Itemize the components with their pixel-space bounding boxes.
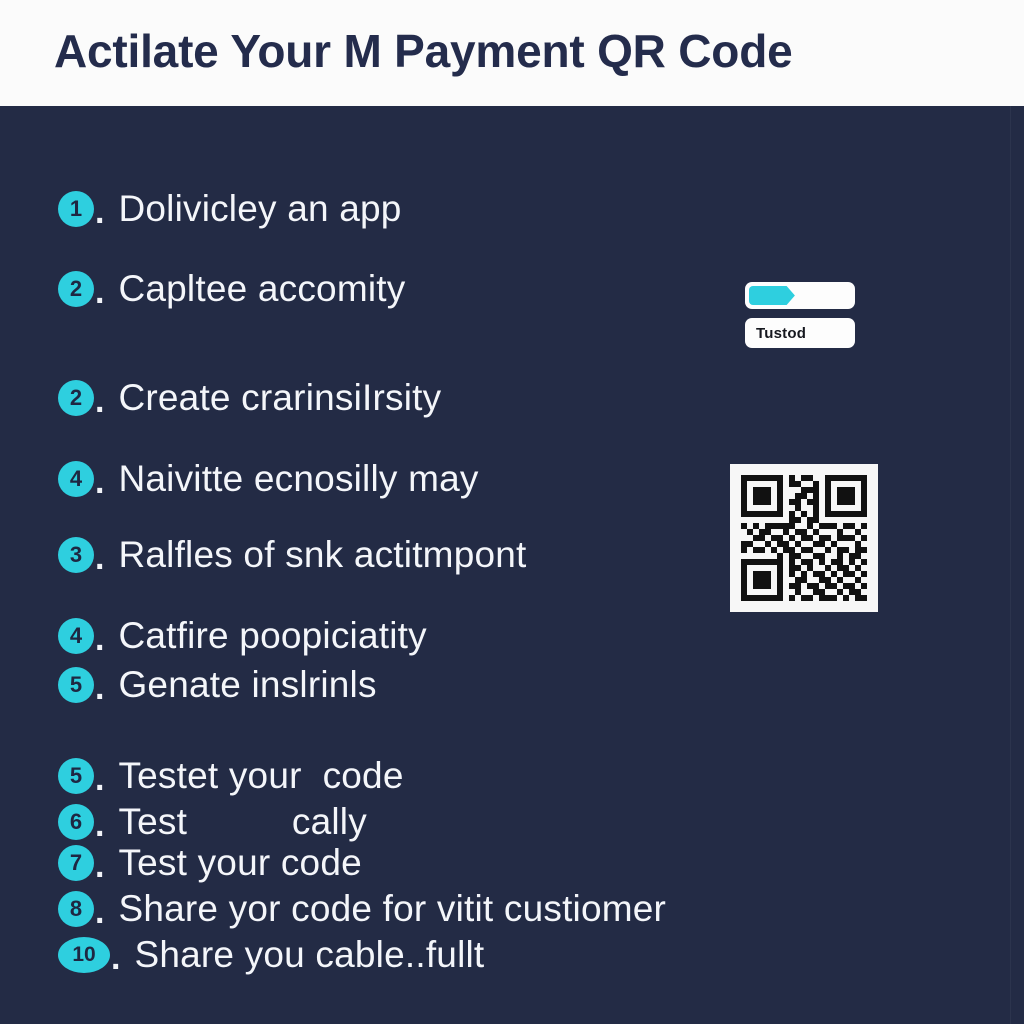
step-item: 5.Testet your code (58, 757, 404, 794)
step-number-period: . (95, 202, 104, 222)
step-label: Ralfles of snk actitmpont (118, 536, 526, 573)
progress-bar-widget[interactable] (745, 282, 855, 309)
step-number-badge: 2 (58, 380, 94, 416)
step-item: 8.Share yor code for vitit custiomer (58, 890, 666, 927)
step-number-period: . (95, 678, 104, 698)
step-label: Test cally (118, 803, 366, 840)
step-number-badge: 1 (58, 191, 94, 227)
step-label: Create crarinsiIrsity (118, 379, 441, 416)
poster-canvas: Actilate Your M Payment QR Code 1.Dolivi… (0, 0, 1024, 1024)
step-item: 2.Capltee accomity (58, 270, 405, 307)
step-label: Share yor code for vitit custiomer (118, 890, 666, 927)
step-number-period: . (111, 948, 120, 968)
step-number-badge: 10 (58, 937, 110, 973)
step-label: Catfire poopiciatity (118, 617, 426, 654)
step-label: Test your code (118, 844, 361, 881)
step-number-period: . (95, 282, 104, 302)
step-number-badge: 7 (58, 845, 94, 881)
step-number-period: . (95, 391, 104, 411)
step-number-badge: 4 (58, 461, 94, 497)
step-label: Share you cable..fullt (134, 936, 484, 973)
step-number-badge: 6 (58, 804, 94, 840)
qr-code-icon (741, 475, 867, 601)
page-title: Actilate Your M Payment QR Code (0, 27, 792, 79)
step-number-badge: 2 (58, 271, 94, 307)
step-item: 7.Test your code (58, 844, 362, 881)
step-item: 5.Genate inslrinls (58, 666, 377, 703)
step-number-period: . (95, 902, 104, 922)
tag-chip[interactable]: Tustod (745, 318, 855, 348)
step-label: Dolivicley an app (118, 190, 401, 227)
step-item: 4.Naivitte ecnosilly may (58, 460, 479, 497)
step-number-period: . (95, 548, 104, 568)
progress-track (749, 286, 851, 305)
step-number-period: . (95, 472, 104, 492)
step-number-period: . (95, 769, 104, 789)
tag-chip-label: Tustod (756, 325, 806, 342)
step-number-period: . (95, 856, 104, 876)
progress-fill (749, 286, 795, 305)
step-number-badge: 5 (58, 758, 94, 794)
step-label: Naivitte ecnosilly may (118, 460, 478, 497)
step-number-period: . (95, 629, 104, 649)
step-label: Capltee accomity (118, 270, 405, 307)
step-label: Testet your code (118, 757, 403, 794)
step-item: 2.Create crarinsiIrsity (58, 379, 441, 416)
header-band: Actilate Your M Payment QR Code (0, 0, 1024, 106)
step-number-period: . (95, 815, 104, 835)
step-item: 6.Test cally (58, 803, 367, 840)
step-item: 1.Dolivicley an app (58, 190, 402, 227)
qr-code-card[interactable] (730, 464, 878, 612)
step-number-badge: 8 (58, 891, 94, 927)
step-item: 3.Ralfles of snk actitmpont (58, 536, 527, 573)
step-number-badge: 4 (58, 618, 94, 654)
step-label: Genate inslrinls (118, 666, 376, 703)
step-item: 10.Share you cable..fullt (58, 936, 484, 973)
step-number-badge: 3 (58, 537, 94, 573)
step-number-badge: 5 (58, 667, 94, 703)
step-item: 4.Catfire poopiciatity (58, 617, 427, 654)
